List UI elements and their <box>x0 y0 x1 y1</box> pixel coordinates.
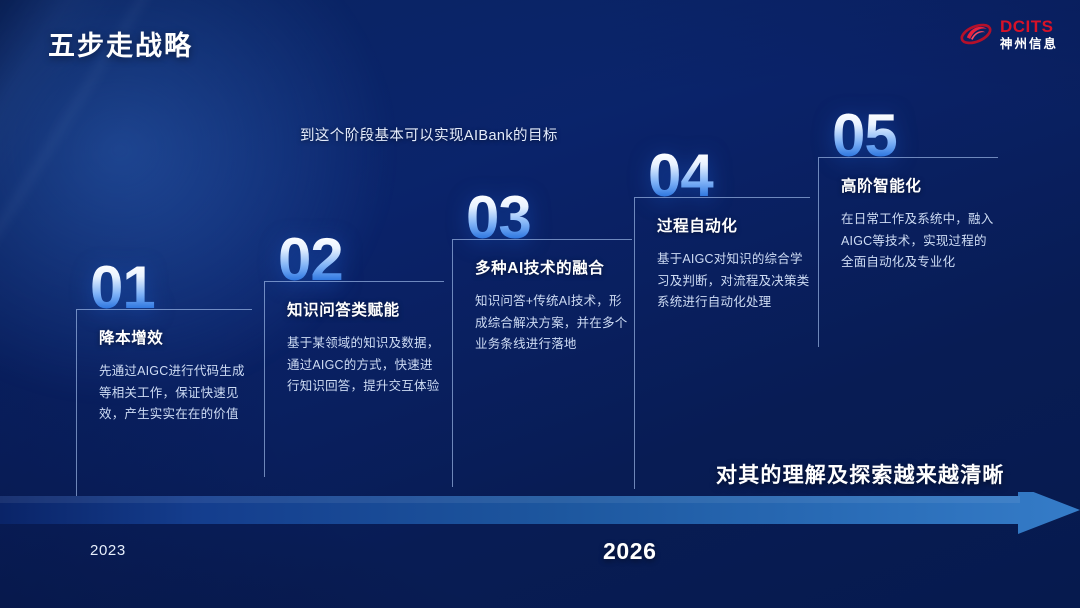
step-content: 知识问答类赋能 基于某领域的知识及数据，通过AIGC的方式，快速进行知识回答，提… <box>264 281 444 477</box>
step-number: 02 <box>278 232 464 287</box>
annotation-text: 到这个阶段基本可以实现AIBank的目标 <box>300 124 558 145</box>
step-description: 知识问答+传统AI技术，形成综合解决方案，并在多个业务条线进行落地 <box>475 291 632 356</box>
step-title: 高阶智能化 <box>841 174 998 196</box>
step-item-02[interactable]: 02 知识问答类赋能 基于某领域的知识及数据，通过AIGC的方式，快速进行知识回… <box>264 232 464 477</box>
timeline-arrow <box>0 492 1080 534</box>
logo-wordmark: DCITS 神州信息 <box>1000 18 1058 51</box>
step-number: 04 <box>648 148 834 203</box>
step-number: 01 <box>90 260 276 315</box>
step-title: 多种AI技术的融合 <box>475 256 632 278</box>
step-item-05[interactable]: 05 高阶智能化 在日常工作及系统中，融入AIGC等技术，实现过程的全面自动化及… <box>818 108 1018 347</box>
step-content: 降本增效 先通过AIGC进行代码生成等相关工作，保证快速见效，产生实实在在的价值 <box>76 309 252 501</box>
step-description: 基于AIGC对知识的综合学习及判断，对流程及决策类系统进行自动化处理 <box>657 249 810 314</box>
step-content: 高阶智能化 在日常工作及系统中，融入AIGC等技术，实现过程的全面自动化及专业化 <box>818 157 998 347</box>
step-item-04[interactable]: 04 过程自动化 基于AIGC对知识的综合学习及判断，对流程及决策类系统进行自动… <box>634 148 834 489</box>
annotation-label: 到这个阶段基本可以实现AIBank的目标 <box>300 128 558 144</box>
timeline-end-year: 2026 <box>603 538 657 565</box>
step-item-03[interactable]: 03 多种AI技术的融合 知识问答+传统AI技术，形成综合解决方案，并在多个业务… <box>452 190 652 487</box>
step-number: 05 <box>832 108 1018 163</box>
step-title: 过程自动化 <box>657 214 810 236</box>
tagline: 对其的理解及探索越来越清晰 <box>716 459 1005 489</box>
step-description: 先通过AIGC进行代码生成等相关工作，保证快速见效，产生实实在在的价值 <box>99 361 252 426</box>
step-item-01[interactable]: 01 降本增效 先通过AIGC进行代码生成等相关工作，保证快速见效，产生实实在在… <box>76 260 276 501</box>
slide-canvas: 五步走战略 DCITS 神州信息 到这个阶段基本可以实现AIBank的目标 01… <box>0 0 1080 608</box>
step-number: 03 <box>466 190 652 245</box>
step-content: 多种AI技术的融合 知识问答+传统AI技术，形成综合解决方案，并在多个业务条线进… <box>452 239 632 487</box>
page-title: 五步走战略 <box>48 24 193 63</box>
timeline-start-year: 2023 <box>90 542 126 559</box>
logo-en: DCITS <box>1000 18 1058 35</box>
swirl-icon <box>959 19 993 49</box>
step-description: 在日常工作及系统中，融入AIGC等技术，实现过程的全面自动化及专业化 <box>841 209 998 274</box>
brand-logo: DCITS 神州信息 <box>959 18 1058 51</box>
arrow-icon <box>0 492 1080 534</box>
logo-cn: 神州信息 <box>1000 38 1058 51</box>
step-title: 降本增效 <box>99 326 252 348</box>
step-description: 基于某领域的知识及数据，通过AIGC的方式，快速进行知识回答，提升交互体验 <box>287 333 444 398</box>
step-content: 过程自动化 基于AIGC对知识的综合学习及判断，对流程及决策类系统进行自动化处理 <box>634 197 810 489</box>
step-title: 知识问答类赋能 <box>287 298 444 320</box>
